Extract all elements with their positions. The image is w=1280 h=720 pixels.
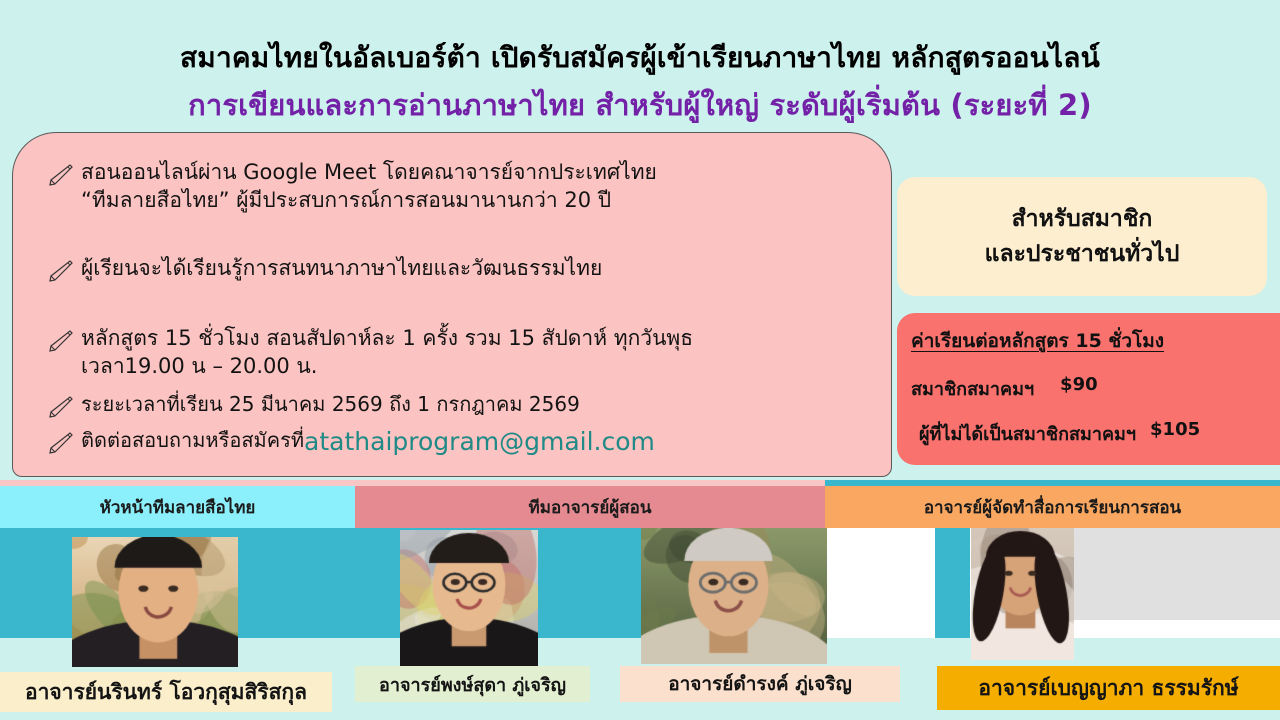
detail-bullet-4: ระยะเวลาที่เรียน 25 มีนาคม 2569 ถึง 1 กร… — [47, 391, 580, 419]
price-value-member: $90 — [1060, 374, 1098, 403]
poster-title-line1: สมาคมไทยในอัลเบอร์ต้า เปิดรับสมัครผู้เข้… — [0, 36, 1280, 80]
poster-canvas: สมาคมไทยในอัลเบอร์ต้า เปิดรับสมัครผู้เข้… — [0, 0, 1280, 720]
detail-bullet-5-text: ติดต่อสอบถามหรือสมัครที่ — [81, 427, 304, 453]
pen-icon — [47, 329, 73, 353]
audience-line2: และประชาชนทั่วไป — [985, 237, 1180, 272]
contact-email-link[interactable]: atathaiprogram@gmail.com — [304, 427, 655, 456]
audience-line1: สำหรับสมาชิก — [1012, 202, 1153, 237]
detail-bullet-2-text: ผู้เรียนจะได้เรียนรู้การสนทนาภาษาไทยและว… — [81, 255, 602, 283]
nameplate-pongsuda: อาจารย์พงษ์สุดา ภู่เจริญ — [355, 666, 590, 702]
avatar-photo-pongsuda — [400, 530, 538, 667]
pen-icon — [47, 259, 73, 283]
detail-bullet-5: ติดต่อสอบถามหรือสมัครที่ atathaiprogram@… — [47, 427, 655, 456]
pen-icon — [47, 431, 73, 455]
avatar-photo-narin — [72, 537, 238, 667]
price-card: ค่าเรียนต่อหลักสูตร 15 ชั่วโมง สมาชิกสมา… — [897, 313, 1280, 465]
detail-bullet-2: ผู้เรียนจะได้เรียนรู้การสนทนาภาษาไทยและว… — [47, 255, 602, 283]
photo-band-block-3 — [935, 528, 970, 638]
category-banner-team-leader: หัวหน้าทีมลายสือไทย — [0, 486, 355, 528]
price-card-title: ค่าเรียนต่อหลักสูตร 15 ชั่วโมง — [911, 326, 1280, 356]
nameplate-damrong: อาจารย์ดำรงค์ ภู่เจริญ — [620, 666, 900, 702]
detail-bullet-4-text: ระยะเวลาที่เรียน 25 มีนาคม 2569 ถึง 1 กร… — [81, 391, 580, 417]
price-row-nonmember: ผู้ที่ไม่ได้เป็นสมาชิกสมาคมฯ $105 — [911, 419, 1280, 448]
course-details-panel: สอนออนไลน์ผ่าน Google Meet โดยคณาจารย์จา… — [12, 132, 892, 477]
avatar-photo-damrong — [641, 528, 827, 664]
nameplate-narin: อาจารย์นรินทร์ โอวกุสุมสิริสกุล — [0, 672, 332, 712]
photo-band-gray-block — [1060, 528, 1280, 620]
price-label-member: สมาชิกสมาคมฯ — [911, 374, 1034, 403]
detail-bullet-1-text: สอนออนไลน์ผ่าน Google Meet โดยคณาจารย์จา… — [81, 159, 657, 214]
poster-title-line2: การเขียนและการอ่านภาษาไทย สำหรับผู้ใหญ่ … — [0, 82, 1280, 128]
pen-icon — [47, 395, 73, 419]
detail-bullet-3: หลักสูตร 15 ชั่วโมง สอนสัปดาห์ละ 1 ครั้ง… — [47, 325, 693, 380]
price-label-nonmember: ผู้ที่ไม่ได้เป็นสมาชิกสมาคมฯ — [919, 419, 1136, 448]
pen-icon — [47, 163, 73, 187]
category-banner-teachers: ทีมอาจารย์ผู้สอน — [355, 486, 825, 528]
detail-bullet-1: สอนออนไลน์ผ่าน Google Meet โดยคณาจารย์จา… — [47, 159, 657, 214]
avatar-photo-benyapa — [971, 528, 1074, 660]
audience-card: สำหรับสมาชิก และประชาชนทั่วไป — [897, 177, 1267, 296]
detail-bullet-3-text: หลักสูตร 15 ชั่วโมง สอนสัปดาห์ละ 1 ครั้ง… — [81, 325, 693, 380]
price-row-member: สมาชิกสมาคมฯ $90 — [911, 374, 1280, 403]
price-value-nonmember: $105 — [1150, 419, 1200, 448]
category-banner-media-creator: อาจารย์ผู้จัดทำสื่อการเรียนการสอน — [825, 486, 1280, 528]
nameplate-benyapa: อาจารย์เบญญาภา ธรรมรักษ์ — [937, 666, 1280, 710]
